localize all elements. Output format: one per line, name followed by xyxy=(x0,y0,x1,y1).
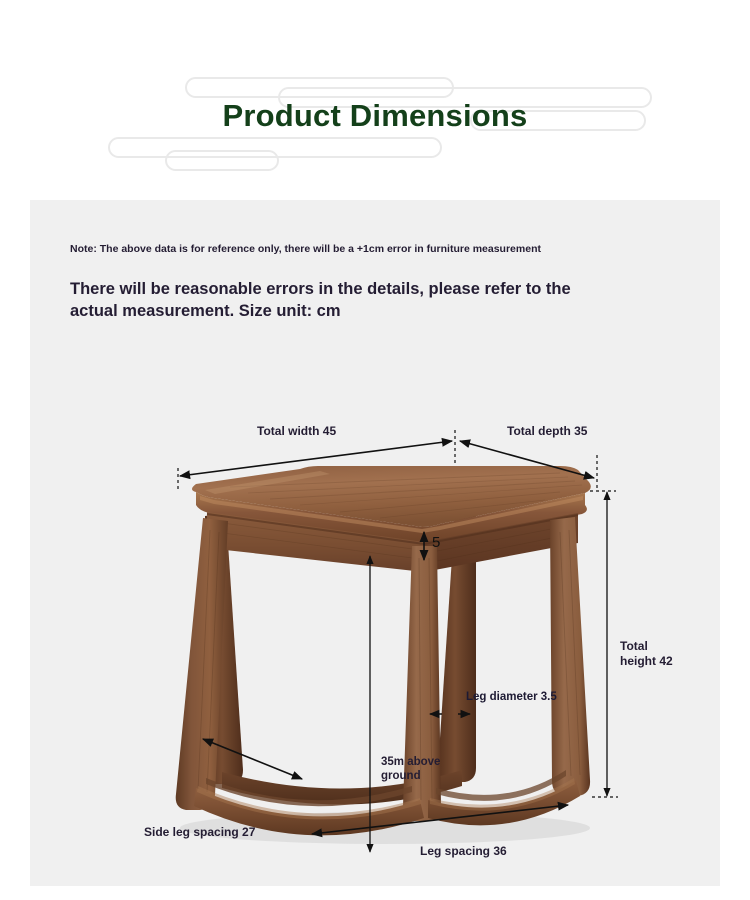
label-above-ground-line2: ground xyxy=(381,770,421,782)
page-title: Product Dimensions xyxy=(0,98,750,134)
label-leg-spacing: Leg spacing 36 xyxy=(420,844,507,859)
content-panel: Note: The above data is for reference on… xyxy=(30,200,720,886)
header-banner: Product Dimensions xyxy=(0,0,750,200)
label-above-ground-line1: 35m above xyxy=(381,756,440,768)
label-total-width: Total width 45 xyxy=(257,424,336,439)
label-side-leg-spacing: Side leg spacing 27 xyxy=(144,825,255,840)
label-total-height: Total height 42 xyxy=(620,639,673,669)
label-total-height-line2: height 42 xyxy=(620,654,673,668)
note-block: Note: The above data is for reference on… xyxy=(70,242,590,323)
decor-pill-4 xyxy=(165,150,279,171)
label-total-depth: Total depth 35 xyxy=(507,424,587,439)
note-small: Note: The above data is for reference on… xyxy=(70,242,590,256)
label-apron-thickness: 5 xyxy=(432,534,440,553)
label-above-ground: 35m above ground xyxy=(381,755,440,784)
label-total-height-line1: Total xyxy=(620,639,648,653)
label-leg-diameter: Leg diameter 3.5 xyxy=(466,690,557,704)
note-large: There will be reasonable errors in the d… xyxy=(70,278,590,323)
